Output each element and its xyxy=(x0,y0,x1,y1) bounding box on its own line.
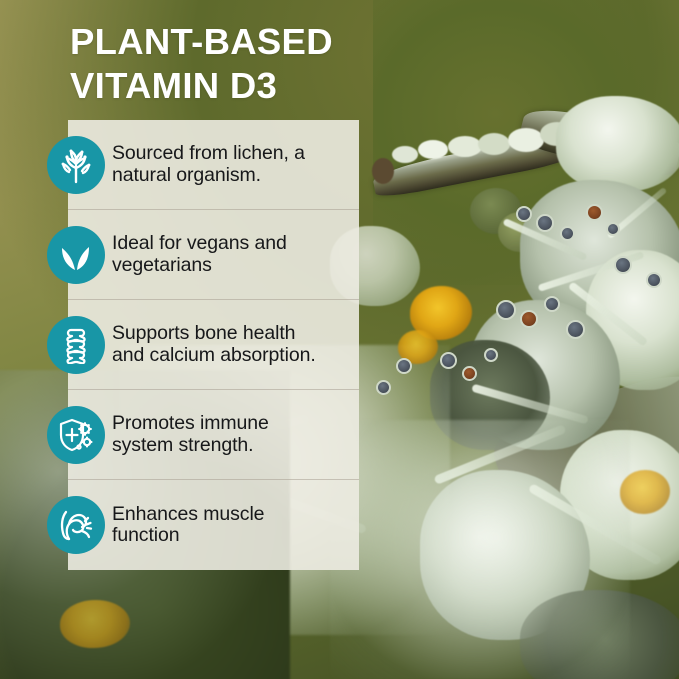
benefit-text: Supports bone health and calcium absorpt… xyxy=(112,323,324,366)
benefit-text: Enhances muscle function xyxy=(112,504,272,547)
lichen-apothecium xyxy=(462,366,477,381)
lichen-knob xyxy=(508,128,544,152)
lichen-apothecium xyxy=(376,380,391,395)
leaf-sprout-icon xyxy=(47,226,105,284)
page-title: PLANT-BASED VITAMIN D3 xyxy=(70,20,490,108)
benefit-row-lichen: Sourced from lichen, a natural organism. xyxy=(68,120,359,210)
spine-bone-icon xyxy=(47,316,105,374)
lichen-apothecium xyxy=(536,214,554,232)
lichen-knob xyxy=(478,133,510,155)
lichen-apothecium xyxy=(606,222,620,236)
branch-stub xyxy=(372,158,394,184)
lichen-knob xyxy=(448,136,482,157)
lichen-knob xyxy=(392,146,418,163)
benefit-row-bone: Supports bone health and calcium absorpt… xyxy=(68,300,359,390)
lichen-apothecium xyxy=(440,352,457,369)
lichen-knob xyxy=(418,140,448,159)
lichen-apothecium xyxy=(544,296,560,312)
benefit-row-muscle: Enhances muscle function xyxy=(68,480,359,570)
lichen-clump xyxy=(556,96,679,192)
lichen-white-mass-secondary xyxy=(330,420,630,679)
lichen-apothecium xyxy=(586,204,603,221)
benefits-panel: Sourced from lichen, a natural organism.… xyxy=(68,120,359,570)
lichen-apothecium xyxy=(614,256,632,274)
shield-germ-icon xyxy=(47,406,105,464)
lichen-apothecium xyxy=(646,272,662,288)
benefit-text: Sourced from lichen, a natural organism. xyxy=(112,143,313,186)
lichen-apothecium xyxy=(566,320,585,339)
lichen-branch-icon xyxy=(47,136,105,194)
lichen-apothecium xyxy=(396,358,412,374)
benefit-row-immune: Promotes immune system strength. xyxy=(68,390,359,480)
product-infographic: PLANT-BASED VITAMIN D3 xyxy=(0,0,679,679)
lichen-apothecium xyxy=(516,206,532,222)
lichen-apothecium xyxy=(560,226,575,241)
lichen-apothecium xyxy=(484,348,498,362)
benefit-row-vegan: Ideal for vegans and vegetarians xyxy=(68,210,359,300)
benefit-text: Promotes immune system strength. xyxy=(112,413,277,456)
flexed-bicep-icon xyxy=(47,496,105,554)
benefit-text: Ideal for vegans and vegetarians xyxy=(112,233,295,276)
lichen-apothecium xyxy=(496,300,516,320)
lichen-apothecium xyxy=(520,310,538,328)
